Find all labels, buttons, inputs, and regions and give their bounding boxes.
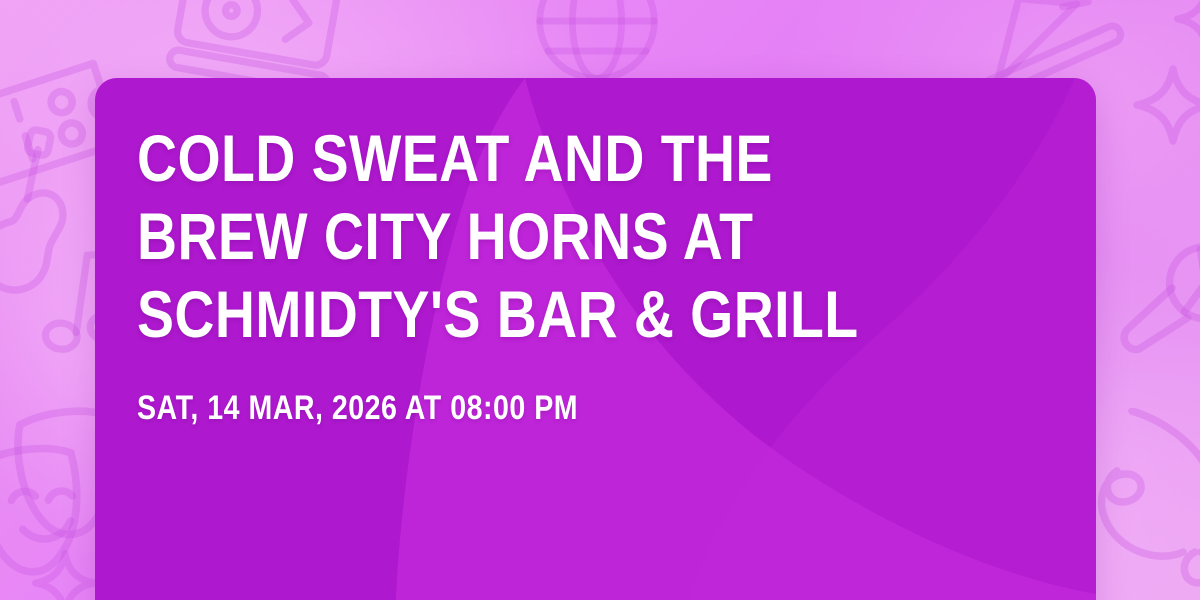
event-card: Cold Sweat and the Brew City Horns at Sc… [95, 78, 1096, 600]
microphone-icon [1095, 211, 1200, 403]
balloon-string-icon [1096, 408, 1200, 600]
event-date: Sat, 14 Mar, 2026 at 08:00 PM [137, 388, 894, 429]
star-burst-icon [1172, 0, 1200, 54]
event-title: Cold Sweat and the Brew City Horns at Sc… [137, 120, 894, 354]
sparkle-icon [1128, 60, 1200, 150]
sparkle-icon [30, 548, 100, 600]
event-banner: Cold Sweat and the Brew City Horns at Sc… [0, 0, 1200, 600]
